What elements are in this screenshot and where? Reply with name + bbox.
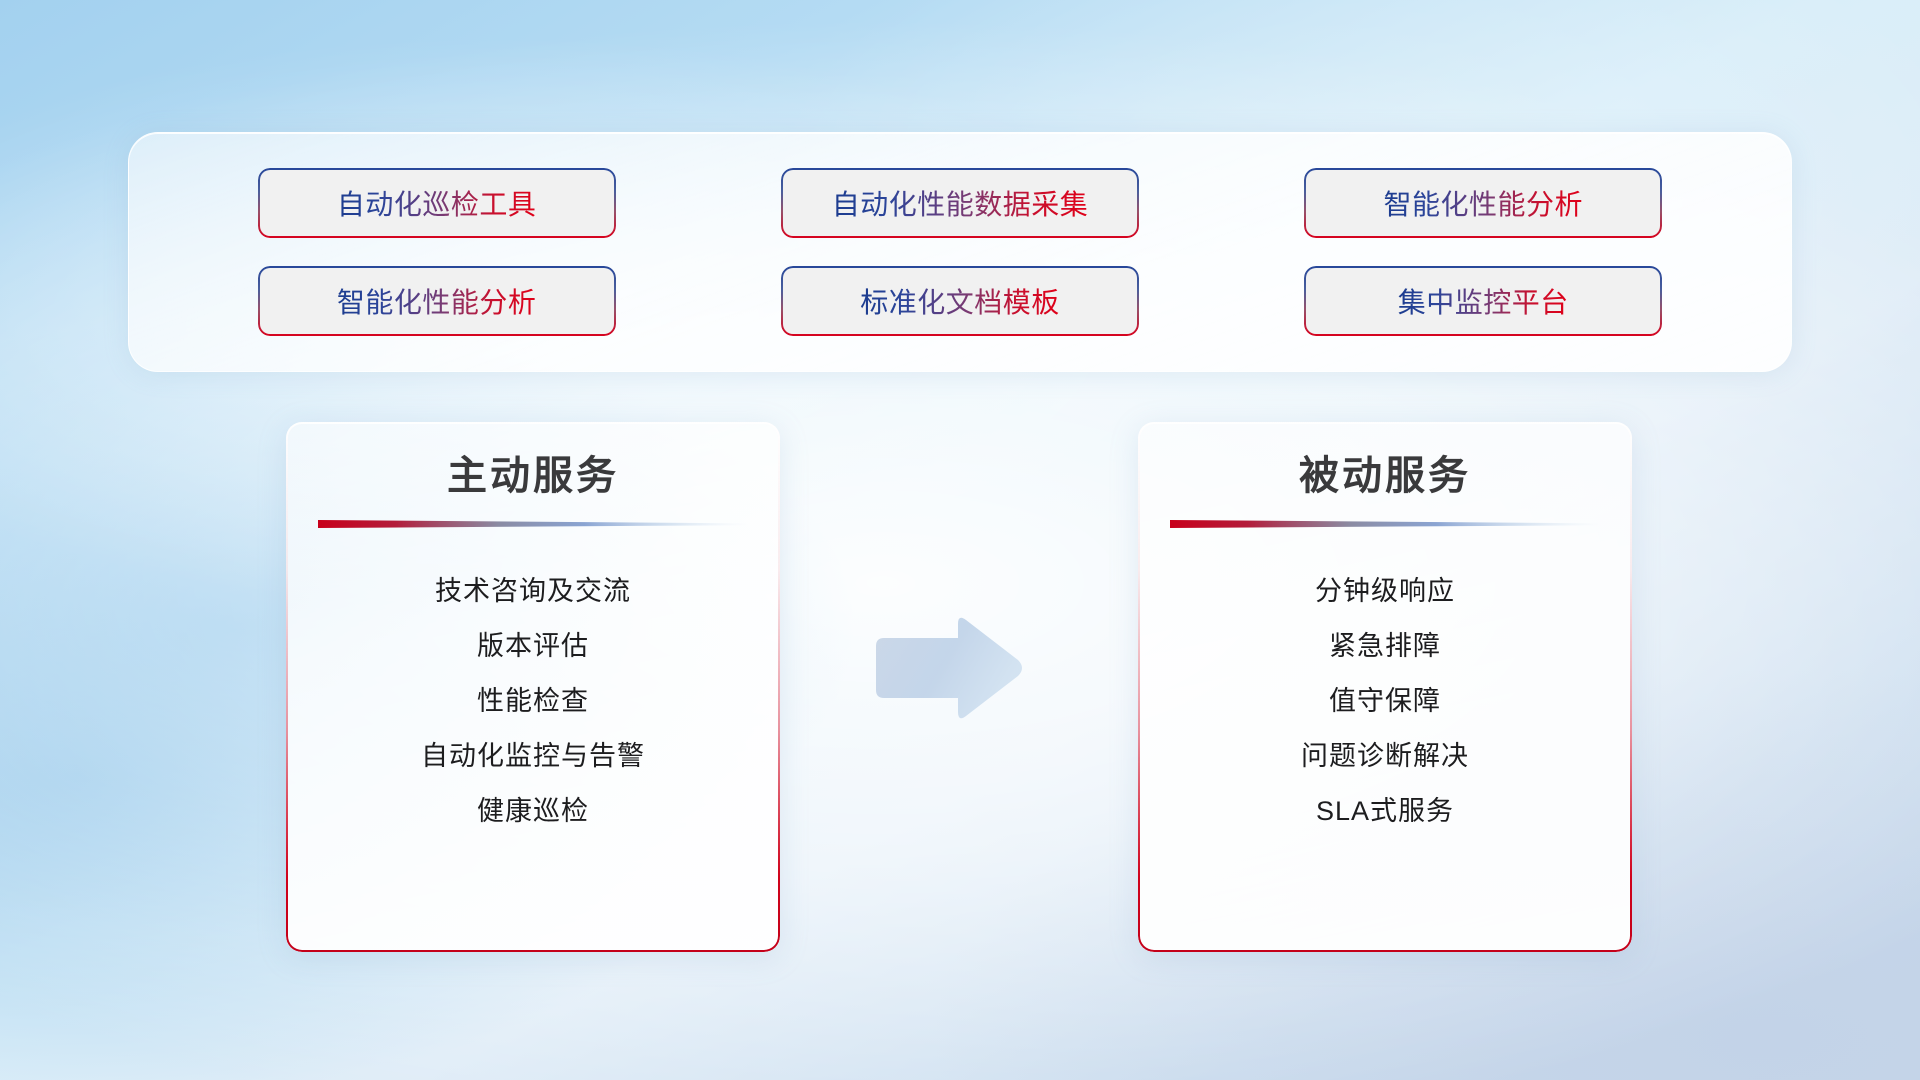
service-list-item[interactable]: 自动化监控与告警 — [286, 729, 780, 784]
service-card-proactive: 主动服务 技术咨询及交流 版本评估 性能检查 — [286, 422, 780, 952]
capability-tag-grid: 自动化巡检工具 自动化性能数据采集 智能化性能分析 智能化性能分析 标准化文档模… — [129, 133, 1791, 371]
capability-tag-1[interactable]: 自动化性能数据采集 — [781, 168, 1139, 238]
service-list-item[interactable]: 值守保障 — [1138, 674, 1632, 729]
capability-tag-2[interactable]: 智能化性能分析 — [1304, 168, 1662, 238]
service-card-reactive: 被动服务 分钟级响应 紧急排障 值守保障 — [1138, 422, 1632, 952]
capability-tag-label: 标准化文档模板 — [860, 281, 1060, 321]
capabilities-panel: 自动化巡检工具 自动化性能数据采集 智能化性能分析 智能化性能分析 标准化文档模… — [128, 132, 1792, 372]
service-list-item[interactable]: 健康巡检 — [286, 784, 780, 839]
card-title-divider — [318, 518, 748, 530]
service-list-item[interactable]: 问题诊断解决 — [1138, 729, 1632, 784]
service-item-list: 技术咨询及交流 版本评估 性能检查 自动化监控与告警 健康巡检 — [286, 564, 780, 839]
capability-tag-3[interactable]: 智能化性能分析 — [258, 266, 616, 336]
capability-tag-5[interactable]: 集中监控平台 — [1304, 266, 1662, 336]
capability-tag-label: 智能化性能分析 — [337, 281, 537, 321]
capability-tag-label: 集中监控平台 — [1398, 281, 1569, 321]
service-item-list: 分钟级响应 紧急排障 值守保障 问题诊断解决 SLA式服务 — [1138, 564, 1632, 839]
card-title-divider — [1170, 518, 1600, 530]
capability-tag-4[interactable]: 标准化文档模板 — [781, 266, 1139, 336]
divider-wedge-icon — [1170, 518, 1600, 530]
service-list-item[interactable]: 性能检查 — [286, 674, 780, 729]
flow-arrow — [870, 612, 1026, 724]
service-list-item[interactable]: SLA式服务 — [1138, 784, 1632, 839]
service-list-item[interactable]: 分钟级响应 — [1138, 564, 1632, 619]
capability-tag-label: 智能化性能分析 — [1384, 183, 1584, 223]
arrow-right-icon — [870, 612, 1026, 724]
capability-tag-0[interactable]: 自动化巡检工具 — [258, 168, 616, 238]
capability-tag-label: 自动化性能数据采集 — [832, 183, 1089, 223]
service-list-item[interactable]: 技术咨询及交流 — [286, 564, 780, 619]
capability-tag-label: 自动化巡检工具 — [337, 183, 537, 223]
card-title: 被动服务 — [1138, 452, 1632, 500]
service-list-item[interactable]: 版本评估 — [286, 619, 780, 674]
card-title: 主动服务 — [286, 452, 780, 500]
divider-wedge-icon — [318, 518, 748, 530]
service-list-item[interactable]: 紧急排障 — [1138, 619, 1632, 674]
